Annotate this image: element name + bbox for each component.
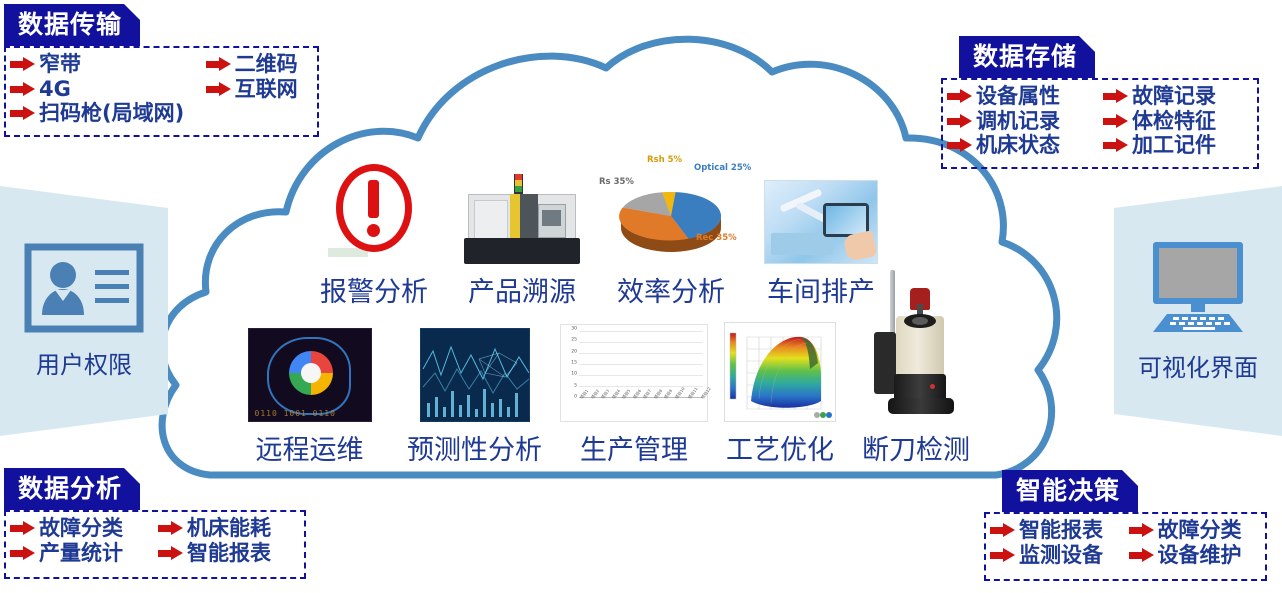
capability-production-management[interactable]: 0 5 10 15 20 25 30 xyxy=(558,310,710,467)
panel-item-label: 监测设备 xyxy=(1019,544,1103,567)
monitor-icon xyxy=(1139,240,1257,340)
wing-visualization-interface[interactable]: 可视化界面 xyxy=(1114,186,1282,436)
panel-items: 窄带4G扫码枪(局域网)二维码互联网 xyxy=(4,46,319,137)
panel-item-label: 机床能耗 xyxy=(187,517,271,540)
bar-chart-x-labels: 项目1项目2项目3项目4项目5项目6项目7项目8项目9项目10项目11项目12 xyxy=(579,397,703,419)
arrow-right-icon xyxy=(158,546,184,561)
arrow-right-icon xyxy=(10,546,36,561)
arrow-right-icon xyxy=(206,57,232,72)
panel-items: 智能报表监测设备故障分类设备维护 xyxy=(984,512,1267,581)
panel-item-column: 故障分类产量统计 xyxy=(10,516,148,572)
arrow-right-icon xyxy=(10,106,36,121)
wing-label: 可视化界面 xyxy=(1138,348,1258,383)
panel-item-label: 4G xyxy=(39,78,71,101)
capability-product-traceability[interactable]: 产品溯源 xyxy=(448,160,596,309)
panel-title: 数据传输 xyxy=(4,4,140,46)
panel-items: 设备属性调机记录机床状态故障记录体检特征加工记件 xyxy=(941,78,1259,169)
wing-user-permission[interactable]: 用户权限 xyxy=(0,186,168,436)
surface-plot-icon xyxy=(724,322,836,422)
panel-data-analysis[interactable]: 数据分析 故障分类产量统计机床能耗智能报表 xyxy=(4,468,306,579)
arrow-right-icon xyxy=(1129,523,1155,538)
panel-intelligent-decision[interactable]: 智能决策 智能报表监测设备故障分类设备维护 xyxy=(984,470,1267,581)
capability-efficiency-analysis[interactable]: Optical 25% Rec 35% Rs 35% Rsh 5% 效率分析 xyxy=(596,160,746,309)
panel-item-column: 窄带4G扫码枪(局域网) xyxy=(10,52,196,130)
capability-label: 断刀检测 xyxy=(862,428,970,467)
panel-item-column: 故障记录体检特征加工记件 xyxy=(1103,84,1249,162)
panel-item[interactable]: 故障记录 xyxy=(1103,85,1249,108)
panel-data-storage[interactable]: 数据存储 设备属性调机记录机床状态故障记录体检特征加工记件 xyxy=(941,36,1259,169)
capability-label: 车间排产 xyxy=(767,270,875,309)
panel-data-transmission[interactable]: 数据传输 窄带4G扫码枪(局域网)二维码互联网 xyxy=(4,4,319,137)
panel-title: 数据存储 xyxy=(959,36,1095,78)
arrow-right-icon xyxy=(1103,138,1129,153)
arrow-right-icon xyxy=(10,82,36,97)
panel-item-label: 扫码枪(局域网) xyxy=(39,102,184,125)
capability-alarm-analysis[interactable]: 报警分析 xyxy=(300,160,448,309)
panel-item-label: 设备属性 xyxy=(976,85,1060,108)
panel-item-column: 二维码互联网 xyxy=(206,52,309,130)
panel-item[interactable]: 设备属性 xyxy=(947,85,1093,108)
panel-item[interactable]: 设备维护 xyxy=(1129,544,1258,567)
panel-item-column: 设备属性调机记录机床状态 xyxy=(947,84,1093,162)
panel-item-label: 智能报表 xyxy=(187,542,271,565)
panel-item[interactable]: 体检特征 xyxy=(1103,110,1249,133)
panel-item-label: 调机记录 xyxy=(976,110,1060,133)
panel-item-label: 加工记件 xyxy=(1132,134,1216,157)
arrow-right-icon xyxy=(10,57,36,72)
arrow-right-icon xyxy=(158,521,184,536)
capability-label: 生产管理 xyxy=(580,428,688,467)
bar-chart-y-axis: 0 5 10 15 20 25 30 xyxy=(563,329,577,397)
bar-chart-bars xyxy=(579,331,703,397)
capability-label: 工艺优化 xyxy=(726,428,834,467)
capability-label: 报警分析 xyxy=(320,270,428,309)
panel-item-label: 体检特征 xyxy=(1132,110,1216,133)
panel-item[interactable]: 智能报表 xyxy=(158,542,296,565)
panel-item[interactable]: 机床状态 xyxy=(947,134,1093,157)
pie-slice-label-rsh: Rsh 5% xyxy=(647,156,682,166)
panel-item[interactable]: 故障分类 xyxy=(10,517,148,540)
arrow-right-icon xyxy=(947,138,973,153)
arrow-right-icon xyxy=(947,89,973,104)
panel-item-column: 机床能耗智能报表 xyxy=(158,516,296,572)
capability-process-optimization[interactable]: 工艺优化 xyxy=(710,310,850,467)
panel-item[interactable]: 互联网 xyxy=(206,78,309,101)
cnc-machine-icon xyxy=(462,172,582,264)
bar-chart-icon: 0 5 10 15 20 25 30 xyxy=(560,324,708,422)
panel-title: 智能决策 xyxy=(1002,470,1138,512)
panel-item-column: 智能报表监测设备 xyxy=(990,518,1119,574)
panel-item[interactable]: 故障分类 xyxy=(1129,519,1258,542)
arrow-right-icon xyxy=(1129,548,1155,563)
infographic-canvas: 报警分析 产品溯源 xyxy=(0,0,1282,593)
capability-label: 远程运维 xyxy=(256,428,364,467)
panel-item-label: 智能报表 xyxy=(1019,519,1103,542)
panel-item-label: 故障分类 xyxy=(1158,519,1242,542)
workshop-tablet-photo xyxy=(764,180,878,264)
panel-item[interactable]: 窄带 xyxy=(10,53,196,76)
arrow-right-icon xyxy=(990,548,1016,563)
arrow-right-icon xyxy=(1103,89,1129,104)
capability-label: 产品溯源 xyxy=(468,270,576,309)
panel-item-label: 机床状态 xyxy=(976,134,1060,157)
capability-tool-break-detection[interactable]: 断刀检测 xyxy=(850,310,982,467)
capability-predictive-analysis[interactable]: 预测性分析 xyxy=(391,310,558,467)
arrow-right-icon xyxy=(990,523,1016,538)
panel-item[interactable]: 监测设备 xyxy=(990,544,1119,567)
id-card-icon xyxy=(24,243,144,337)
panel-item-label: 二维码 xyxy=(235,53,298,76)
panel-item-label: 设备维护 xyxy=(1158,544,1242,567)
panel-title: 数据分析 xyxy=(4,468,140,510)
pie-slice-label-optical: Optical 25% xyxy=(694,164,751,174)
pie-slice-label-rec: Rec 35% xyxy=(696,234,737,244)
panel-item[interactable]: 调机记录 xyxy=(947,110,1093,133)
panel-item[interactable]: 产量统计 xyxy=(10,542,148,565)
cloud-capability-row-bottom: 0110 1001 0110 远程运维 xyxy=(228,310,982,467)
capability-label: 预测性分析 xyxy=(407,428,542,467)
panel-item-label: 故障记录 xyxy=(1132,85,1216,108)
ai-brain-photo: 0110 1001 0110 xyxy=(248,328,372,422)
capability-remote-maintenance[interactable]: 0110 1001 0110 远程运维 xyxy=(228,310,391,467)
panel-item[interactable]: 机床能耗 xyxy=(158,517,296,540)
panel-item[interactable]: 扫码枪(局域网) xyxy=(10,102,196,125)
panel-item-label: 互联网 xyxy=(235,78,298,101)
pie-chart-icon: Optical 25% Rec 35% Rs 35% Rsh 5% xyxy=(597,152,745,264)
arrow-right-icon xyxy=(10,521,36,536)
panel-item[interactable]: 4G xyxy=(10,78,196,101)
pie-slice-label-rs: Rs 35% xyxy=(599,178,634,188)
arrow-right-icon xyxy=(206,82,232,97)
panel-item[interactable]: 二维码 xyxy=(206,53,309,76)
panel-item[interactable]: 智能报表 xyxy=(990,519,1119,542)
panel-item-label: 窄带 xyxy=(39,53,81,76)
predictive-wave-photo xyxy=(420,328,530,422)
cloud-capability-row-top: 报警分析 产品溯源 xyxy=(300,160,896,309)
panel-item-label: 故障分类 xyxy=(39,517,123,540)
alert-circle-icon xyxy=(328,164,420,264)
panel-item-label: 产量统计 xyxy=(39,542,123,565)
panel-item-column: 故障分类设备维护 xyxy=(1129,518,1258,574)
wing-label: 用户权限 xyxy=(36,345,132,380)
tool-sensor-icon xyxy=(868,270,964,420)
panel-items: 故障分类产量统计机床能耗智能报表 xyxy=(4,510,306,579)
panel-item[interactable]: 加工记件 xyxy=(1103,134,1249,157)
bar-chart-plot-area xyxy=(579,331,703,397)
arrow-right-icon xyxy=(1103,114,1129,129)
capability-label: 效率分析 xyxy=(617,270,725,309)
arrow-right-icon xyxy=(947,114,973,129)
